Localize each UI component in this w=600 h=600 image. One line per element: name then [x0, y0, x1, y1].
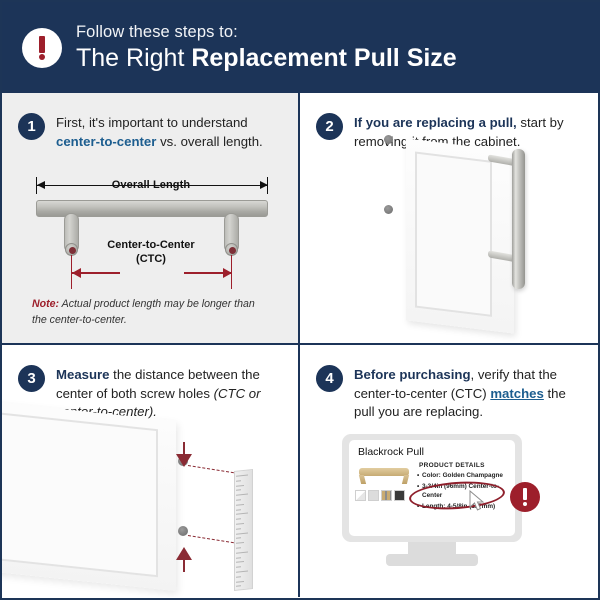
cabinet-door-graphic-3	[2, 401, 176, 591]
header-text-group: Follow these steps to: The Right Replace…	[76, 23, 457, 72]
monitor-frame: Blackrock Pull PRODUCT DETAILS Color: Go…	[342, 434, 522, 542]
header-banner: Follow these steps to: The Right Replace…	[2, 2, 600, 93]
ruler-graphic	[234, 469, 253, 591]
header-kicker: Follow these steps to:	[76, 23, 457, 42]
ctc-label: Center-to-Center	[2, 239, 300, 251]
diagram-note: Note: Actual product length may be longe…	[32, 297, 272, 329]
mouse-cursor-icon	[469, 490, 487, 512]
step-panel-2: 2 If you are replacing a pull, start by …	[300, 93, 598, 345]
product-details-heading: PRODUCT DETAILS	[419, 462, 485, 469]
ctc-arrow-right-icon	[223, 268, 232, 278]
exclamation-circle-icon-alert	[510, 482, 540, 512]
step-panel-1: 1 First, it's important to understand ce…	[2, 93, 300, 345]
title-bold: Replacement Pull Size	[191, 44, 456, 72]
exclamation-circle-icon	[22, 28, 62, 68]
screw-hole-bottom-3	[178, 526, 188, 536]
infographic-root: Follow these steps to: The Right Replace…	[0, 0, 600, 600]
step-4-text: Before purchasing, verify that the cente…	[354, 365, 582, 422]
product-title: Blackrock Pull	[358, 446, 424, 458]
pull-measurement-diagram: Overall Length Center-to-Center (CTC) No…	[2, 173, 300, 345]
thumbnail-2[interactable]	[368, 490, 379, 501]
cabinet-pull-graphic	[512, 149, 525, 289]
arrow-left-icon	[37, 181, 45, 189]
page-title: The Right Replacement Pull Size	[76, 44, 457, 72]
cabinet-photo-step2	[300, 93, 598, 345]
screw-hole-bottom	[384, 205, 393, 214]
step-4-link[interactable]: matches	[490, 386, 544, 401]
step-1-highlight: center-to-center	[56, 134, 156, 149]
arrow-down-icon	[176, 454, 192, 467]
step-4-header: 4 Before purchasing, verify that the cen…	[300, 345, 598, 422]
detail-color: Color: Golden Champagne	[417, 472, 509, 480]
monitor-graphic: Blackrock Pull PRODUCT DETAILS Color: Go…	[342, 434, 522, 574]
step-4-highlight: Before purchasing	[354, 367, 471, 382]
step-number-4: 4	[316, 365, 343, 392]
step-number-1: 1	[18, 113, 45, 140]
step-1-header: 1 First, it's important to understand ce…	[2, 93, 298, 151]
arrow-up-icon	[176, 547, 192, 560]
note-body: Actual product length may be longer than…	[32, 298, 255, 326]
cabinet-photo-step3	[2, 345, 300, 597]
step-1-text-part-2: vs. overall length.	[156, 134, 262, 149]
arrow-right-icon	[260, 181, 268, 189]
step-panel-3: 3 Measure the distance between the cente…	[2, 345, 300, 597]
thumbnail-4[interactable]	[394, 490, 405, 501]
step-1-text-part-1: First, it's important to understand	[56, 115, 248, 130]
product-image	[357, 464, 411, 484]
step-1-text: First, it's important to understand cent…	[56, 113, 282, 151]
ctc-sublabel: (CTC)	[2, 253, 300, 265]
product-thumbnails[interactable]	[355, 490, 405, 501]
cabinet-door-graphic	[406, 138, 514, 333]
product-page-screen: Blackrock Pull PRODUCT DETAILS Color: Go…	[349, 440, 515, 536]
screw-hole-top	[384, 135, 393, 144]
title-light: The Right	[76, 44, 191, 72]
ctc-arrow-left-icon	[72, 268, 81, 278]
thumbnail-3[interactable]	[381, 490, 392, 501]
thumbnail-1[interactable]	[355, 490, 366, 501]
note-lead: Note:	[32, 298, 59, 310]
